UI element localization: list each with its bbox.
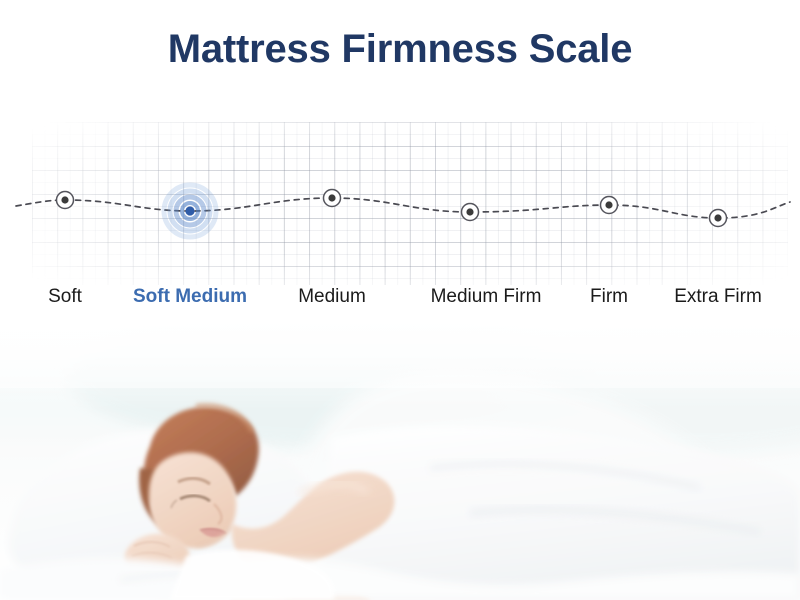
- marker-soft-medium-active[interactable]: [164, 185, 216, 237]
- marker-soft[interactable]: [57, 192, 74, 209]
- scale-label-soft-medium[interactable]: Soft Medium: [133, 286, 247, 308]
- firmness-curve: [16, 198, 790, 218]
- scale-label-soft[interactable]: Soft: [48, 286, 82, 308]
- marker-extra-firm[interactable]: [710, 210, 727, 227]
- scale-label-extra-firm[interactable]: Extra Firm: [674, 286, 762, 308]
- firmness-label-row: Soft Soft Medium Medium Medium Firm Firm…: [0, 286, 800, 316]
- marker-firm[interactable]: [601, 197, 618, 214]
- scale-label-firm[interactable]: Firm: [590, 286, 628, 308]
- marker-medium-firm[interactable]: [462, 204, 479, 221]
- scale-label-medium[interactable]: Medium: [298, 286, 366, 308]
- scale-label-medium-firm[interactable]: Medium Firm: [431, 286, 542, 308]
- marker-medium[interactable]: [324, 190, 341, 207]
- photo-illustration: [0, 318, 800, 600]
- page-title: Mattress Firmness Scale: [0, 26, 800, 72]
- sleeping-woman-photo: [0, 318, 800, 600]
- firmness-scale-page: Mattress Firmness Scale: [0, 0, 800, 600]
